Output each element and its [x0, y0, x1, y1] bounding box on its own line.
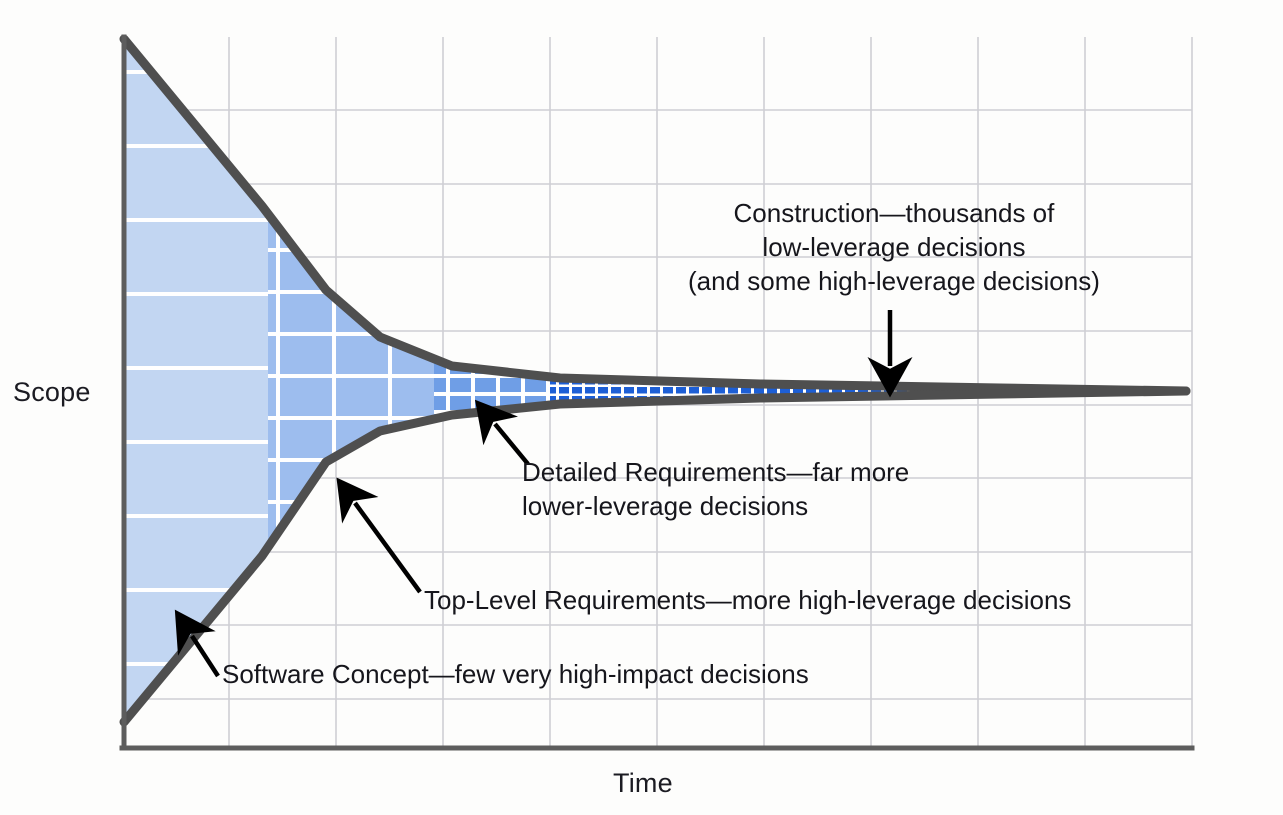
annotation-construction: Construction—thousands of low-leverage d… — [688, 196, 1100, 298]
annotation-software-concept: Software Concept—few very high-impact de… — [222, 657, 809, 691]
funnel-chart-svg — [0, 0, 1283, 815]
annotation-construction-line-1: Construction—thousands of — [688, 196, 1100, 230]
annotation-construction-line-2: low-leverage decisions — [688, 230, 1100, 264]
annotation-software-concept-line-1: Software Concept—few very high-impact de… — [222, 657, 809, 691]
annotation-construction-line-3: (and some high-leverage decisions) — [688, 264, 1100, 298]
annotation-top-level-requirements-line-1: Top-Level Requirements—more high-leverag… — [424, 583, 1071, 617]
annotation-detailed-requirements-line-2: lower-leverage decisions — [522, 489, 909, 523]
top-level-requirements-arrow — [355, 503, 420, 592]
annotation-detailed-requirements-line-1: Detailed Requirements—far more — [522, 455, 909, 489]
annotation-top-level-requirements: Top-Level Requirements—more high-leverag… — [424, 583, 1071, 617]
funnel-figure: Scope Time Construction—thousands of low… — [0, 0, 1283, 815]
annotation-detailed-requirements: Detailed Requirements—far more lower-lev… — [522, 455, 909, 523]
x-axis-label: Time — [613, 768, 673, 799]
software-concept-arrow — [192, 636, 218, 676]
y-axis-label: Scope — [13, 377, 91, 408]
